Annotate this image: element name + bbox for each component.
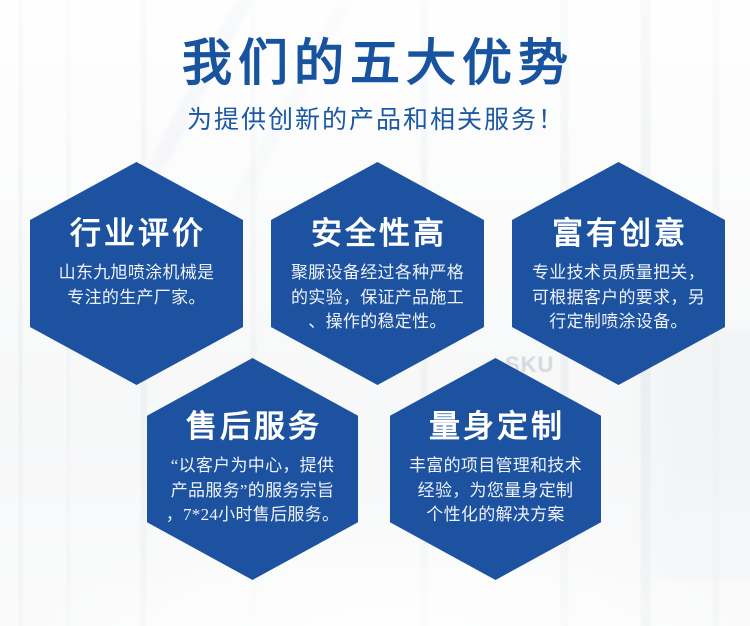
advantage-body: “以客户为中心，提供产品服务”的服务宗旨，7*24小时售后服务。 — [147, 454, 358, 528]
page-title: 我们的五大优势 — [0, 38, 750, 89]
advantage-body: 山东九旭喷涂机械是专注的生产厂家。 — [30, 261, 243, 310]
page-subtitle: 为提供创新的产品和相关服务！ — [0, 100, 750, 136]
advantage-body: 专业技术员质量把关，可根据客户的要求，另行定制喷涂设备。 — [512, 261, 725, 335]
advantage-title: 行业评价 — [30, 218, 243, 249]
banner-header: 我们的五大优势 为提供创新的产品和相关服务！ — [0, 38, 750, 136]
promo-banner: SKU 我们的五大优势 为提供创新的产品和相关服务！ 行业评价 山东九旭喷涂机械… — [0, 0, 750, 626]
advantage-title: 售后服务 — [147, 411, 358, 442]
advantage-body: 聚脲设备经过各种严格的实验，保证产品施工、操作的稳定性。 — [271, 261, 484, 335]
advantage-body: 丰富的项目管理和技术经验，为您量身定制个性化的解决方案 — [390, 454, 601, 528]
advantage-title: 安全性高 — [271, 218, 484, 249]
advantage-title: 量身定制 — [390, 411, 601, 442]
advantage-title: 富有创意 — [512, 218, 725, 249]
